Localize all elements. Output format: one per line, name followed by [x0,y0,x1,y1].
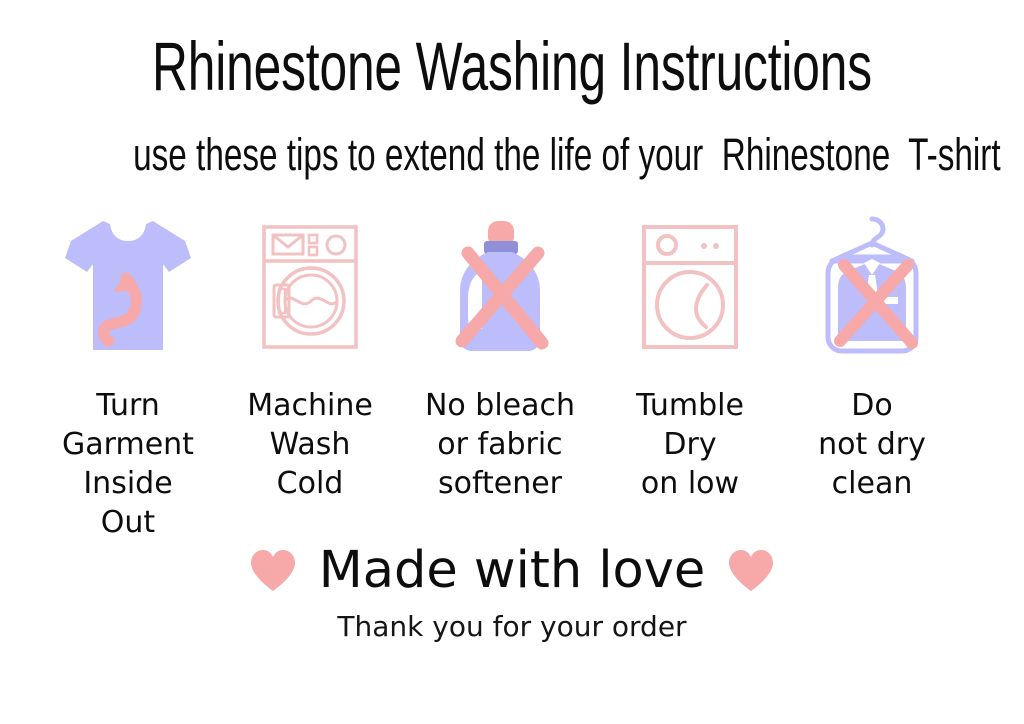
instruction-icon-5 [782,212,962,362]
instruction-caption-1: Turn Garment Inside Out [23,386,233,542]
heart-icon [727,549,775,593]
tumble-dryer-icon [640,223,740,351]
washing-machine-icon [260,223,360,351]
instruction-icon-2 [220,212,400,362]
made-with-love-row: Made with love [0,536,1024,606]
instruction-icon-3 [410,212,590,362]
no-dry-clean-icon [812,213,932,361]
washing-instructions-card: Rhinestone Washing Instructions use thes… [0,0,1024,724]
thank-you-text: Thank you for your order [0,608,1024,646]
instruction-caption-row: Turn Garment Inside Out Machine Wash Col… [0,386,1024,536]
tshirt-inside-out-icon [63,216,193,358]
instruction-caption-4: Tumble Dry on low [585,386,795,503]
instruction-icon-1 [38,212,218,362]
made-with-love-text: Made with love [319,540,706,602]
instruction-caption-5: Do not dry clean [767,386,977,503]
page-title: Rhinestone Washing Instructions [143,28,880,106]
instruction-caption-2: Machine Wash Cold [205,386,415,503]
instruction-icon-row [0,212,1024,362]
instruction-icon-4 [600,212,780,362]
instruction-caption-3: No bleach or fabric softener [395,386,605,503]
page-subtitle: use these tips to extend the life of you… [133,128,891,182]
no-bleach-bottle-icon [442,217,558,357]
heart-icon [249,549,297,593]
